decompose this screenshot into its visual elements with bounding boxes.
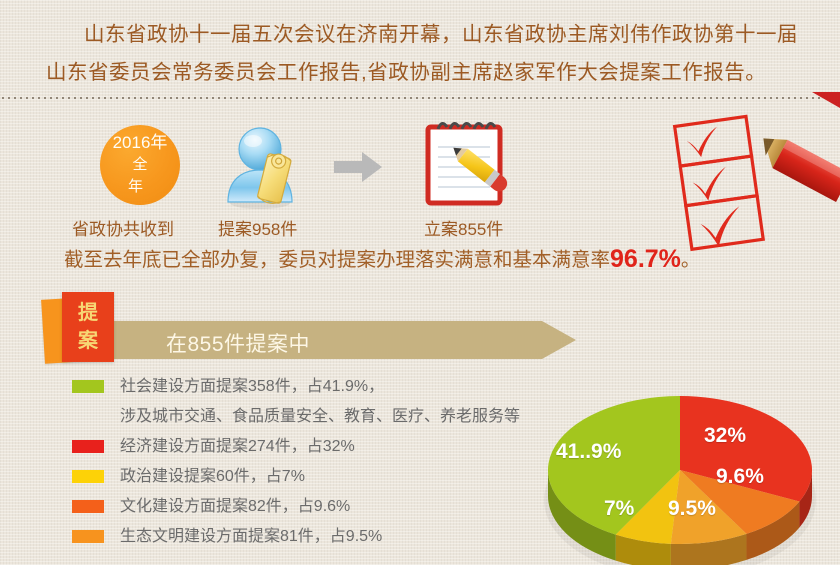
legend-label: 文化建设方面提案82件，占9.6%: [120, 494, 350, 520]
caption-filed: 立案855件: [424, 215, 503, 240]
caption-received: 省政协共收到: [72, 215, 174, 240]
legend-swatch-economic: [72, 440, 104, 453]
pie-label-cultural: 9.6%: [716, 465, 764, 489]
legend-swatch-ecological: [72, 530, 104, 543]
person-with-scroll-icon: [214, 120, 306, 212]
legend-item: 经济建设方面提案274件，占32%: [72, 434, 542, 464]
legend-swatch-cultural: [72, 500, 104, 513]
legend-item: 文化建设方面提案82件，占9.6%: [72, 494, 542, 524]
pie-label-economic: 32%: [704, 424, 746, 448]
satisfaction-statement: 截至去年底已全部办复，委员对提案办理落实满意和基本满意率96.7%。: [64, 243, 700, 274]
caption-proposals: 提案958件: [218, 215, 297, 240]
legend-label: 生态文明建设方面提案81件，占9.5%: [120, 524, 382, 550]
legend-item: 政治建设提案60件，占7%: [72, 464, 542, 494]
notepad-pencil-icon: [418, 113, 518, 213]
legend-label: 涉及城市交通、食品质量安全、教育、医疗、养老服务等: [120, 404, 520, 430]
year-badge-line2: 全 年: [100, 154, 180, 198]
legend-item: 社会建设方面提案358件，占41.9%，: [72, 374, 542, 404]
arrow-right-icon: [332, 150, 384, 184]
banner-tab-line1: 提: [78, 299, 98, 327]
pie-label-social: 41..9%: [556, 440, 621, 464]
legend-swatch-political: [72, 470, 104, 483]
pie-chart-svg: [520, 392, 840, 565]
legend-label: 经济建设方面提案274件，占32%: [120, 434, 355, 460]
banner-tab: 提 案: [62, 292, 114, 362]
legend-swatch-none: [72, 410, 104, 423]
pie-chart: 41..9% 32% 9.6% 9.5% 7%: [520, 392, 840, 565]
header-section: 山东省政协十一届五次会议在济南开幕，山东省政协主席刘伟作政协第十一届山东省委员会…: [0, 0, 840, 92]
satisfaction-suffix: 。: [681, 249, 701, 271]
banner-title: 在855件提案中: [166, 328, 310, 358]
checklist-pencil-icon: [660, 104, 840, 264]
year-badge: 2016年 全 年: [100, 125, 180, 205]
legend-item: 生态文明建设方面提案81件，占9.5%: [72, 524, 542, 554]
legend-list: 社会建设方面提案358件，占41.9%， 涉及城市交通、食品质量安全、教育、医疗…: [72, 374, 542, 554]
pie-label-ecological: 9.5%: [668, 497, 716, 521]
satisfaction-value: 96.7%: [610, 245, 681, 273]
infographic-canvas: 山东省政协十一届五次会议在济南开幕，山东省政协主席刘伟作政协第十一届山东省委员会…: [0, 0, 840, 565]
legend-label: 政治建设提案60件，占7%: [120, 464, 305, 490]
header-text: 山东省政协十一届五次会议在济南开幕，山东省政协主席刘伟作政协第十一届山东省委员会…: [46, 16, 806, 92]
legend-swatch-social: [72, 380, 104, 393]
pie-label-political: 7%: [604, 497, 634, 521]
legend-label: 社会建设方面提案358件，占41.9%，: [120, 374, 384, 400]
year-badge-line1: 2016年: [113, 132, 168, 154]
legend-item-continuation: 涉及城市交通、食品质量安全、教育、医疗、养老服务等: [72, 404, 542, 434]
header-divider: [0, 97, 840, 99]
banner-tab-line2: 案: [78, 327, 98, 355]
satisfaction-prefix: 截至去年底已全部办复，委员对提案办理落实满意和基本满意率: [64, 249, 610, 271]
section-banner: 提 案 在855件提案中: [40, 292, 600, 370]
